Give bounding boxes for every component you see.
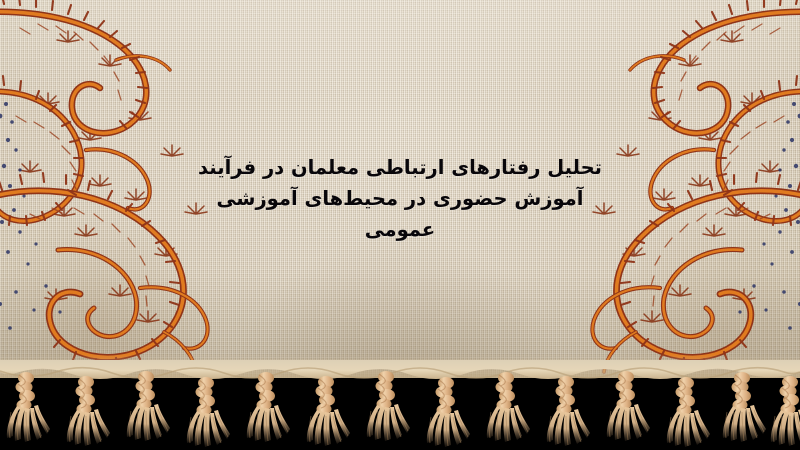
tassel-group (7, 371, 800, 447)
title-line-2: آموزش حضوری در محیط‌های آموزشی (0, 183, 800, 214)
slide-canvas: تحلیل رفتارهای ارتباطی معلمان در فرآیند … (0, 0, 800, 450)
tassel-fringe (0, 360, 800, 450)
title-line-1: تحلیل رفتارهای ارتباطی معلمان در فرآیند (0, 152, 800, 183)
slide-title: تحلیل رفتارهای ارتباطی معلمان در فرآیند … (0, 152, 800, 245)
title-line-3: عمومی (0, 214, 800, 245)
